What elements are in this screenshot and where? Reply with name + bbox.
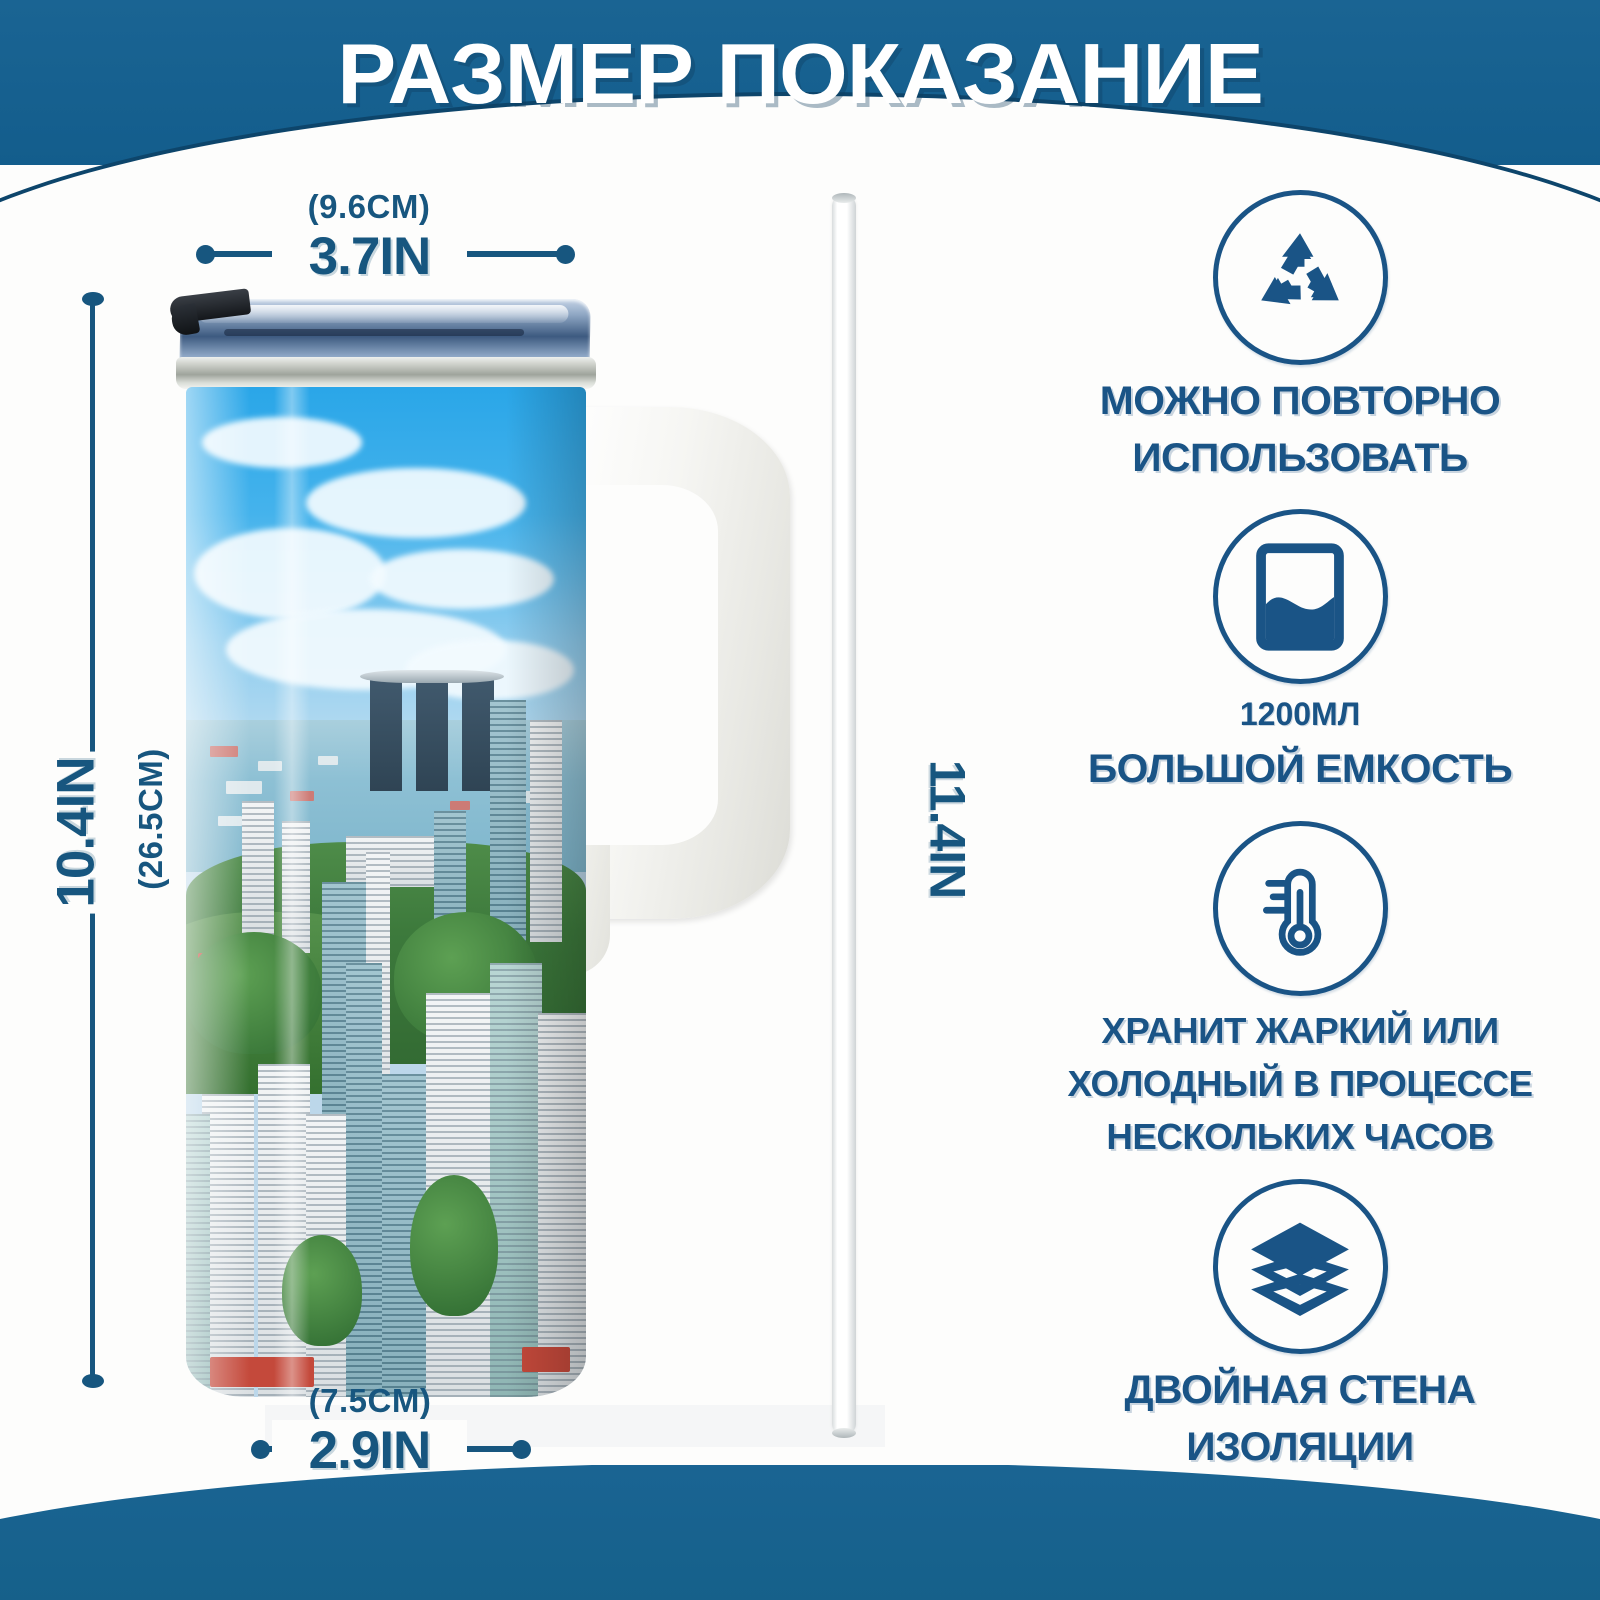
feature-insulation: ДВОЙНАЯ СТЕНА ИЗОЛЯЦИИ (1000, 1179, 1600, 1468)
feature-reusable-line2: ИСПОЛЬЗОВАТЬ (994, 438, 1600, 479)
layers-icon (1244, 1216, 1356, 1316)
feature-insulation-line1: ДВОЙНАЯ СТЕНА (994, 1370, 1600, 1411)
tumbler-body (186, 387, 586, 1397)
lid-seam (224, 329, 524, 336)
body-right-shadow (506, 387, 586, 1397)
filled-glass-icon (1250, 541, 1350, 653)
feature-insulation-line2: ИЗОЛЯЦИИ (994, 1427, 1600, 1468)
feature-temperature: ХРАНИТ ЖАРКИЙ ИЛИ ХОЛОДНЫЙ В ПРОЦЕССЕ НЕ… (1000, 821, 1600, 1155)
layers-icon-frame (1213, 1179, 1388, 1354)
top-dim-cm-label: (9.6CM) (249, 188, 489, 226)
artwork-trees (410, 1175, 498, 1316)
recycle-icon-frame (1213, 190, 1388, 365)
body-gloss (274, 387, 310, 1397)
footer-curve (0, 1465, 1600, 1600)
infographic-canvas: РАЗМЕР ПОКАЗАНИЕ (9.6CM) 3.7IN 10.4IN (2… (0, 0, 1600, 1600)
top-dim-inch-label: 3.7IN (272, 226, 467, 287)
lid-highlight (198, 305, 568, 323)
feature-capacity-line1: БОЛЬШОЙ ЕМКОСТЬ (994, 749, 1600, 790)
tumbler-handle (562, 407, 790, 919)
feature-reusable: МОЖНО ПОВТОРНО ИСПОЛЬЗОВАТЬ (1000, 190, 1600, 479)
straw-bottom-cap (832, 1428, 856, 1438)
feature-reusable-line1: МОЖНО ПОВТОРНО (994, 381, 1600, 422)
thermometer-icon (1244, 852, 1356, 964)
bottom-dim-cm-label: (7.5CM) (250, 1382, 490, 1420)
feature-list: МОЖНО ПОВТОРНО ИСПОЛЬЗОВАТЬ 1200МЛ БОЛЬШ… (1000, 190, 1600, 1468)
straw-length-label: 11.4IN (918, 760, 976, 899)
straw-top-cap (832, 193, 856, 203)
left-dim-inch-label: 10.4IN (44, 751, 109, 913)
tumbler-steel-rim (176, 357, 596, 389)
feature-capacity-volume: 1200МЛ (1000, 696, 1600, 733)
body-left-highlight (186, 387, 250, 1397)
feature-temperature-line2: ХОЛОДНЫЙ В ПРОЦЕССЕ (994, 1065, 1600, 1102)
straw (832, 196, 856, 1434)
tumbler-product (150, 285, 790, 1405)
artwork-ship (318, 756, 338, 765)
artwork-building (346, 836, 434, 887)
footer-banner (0, 1465, 1600, 1600)
recycle-icon (1244, 222, 1356, 334)
artwork-cloud (306, 468, 526, 539)
thermometer-icon-frame (1213, 821, 1388, 996)
tumbler-wrap-artwork (186, 387, 586, 1397)
feature-temperature-line1: ХРАНИТ ЖАРКИЙ ИЛИ (994, 1012, 1600, 1049)
artwork-ship (450, 801, 470, 810)
artwork-building (346, 963, 382, 1397)
page-title: РАЗМЕР ПОКАЗАНИЕ (0, 26, 1600, 124)
glass-icon-frame (1213, 509, 1388, 684)
artwork-landmark-mbs (370, 675, 494, 791)
feature-temperature-line3: НЕСКОЛЬКИХ ЧАСОВ (994, 1118, 1600, 1155)
feature-capacity: 1200МЛ БОЛЬШОЙ ЕМКОСТЬ (1000, 509, 1600, 790)
